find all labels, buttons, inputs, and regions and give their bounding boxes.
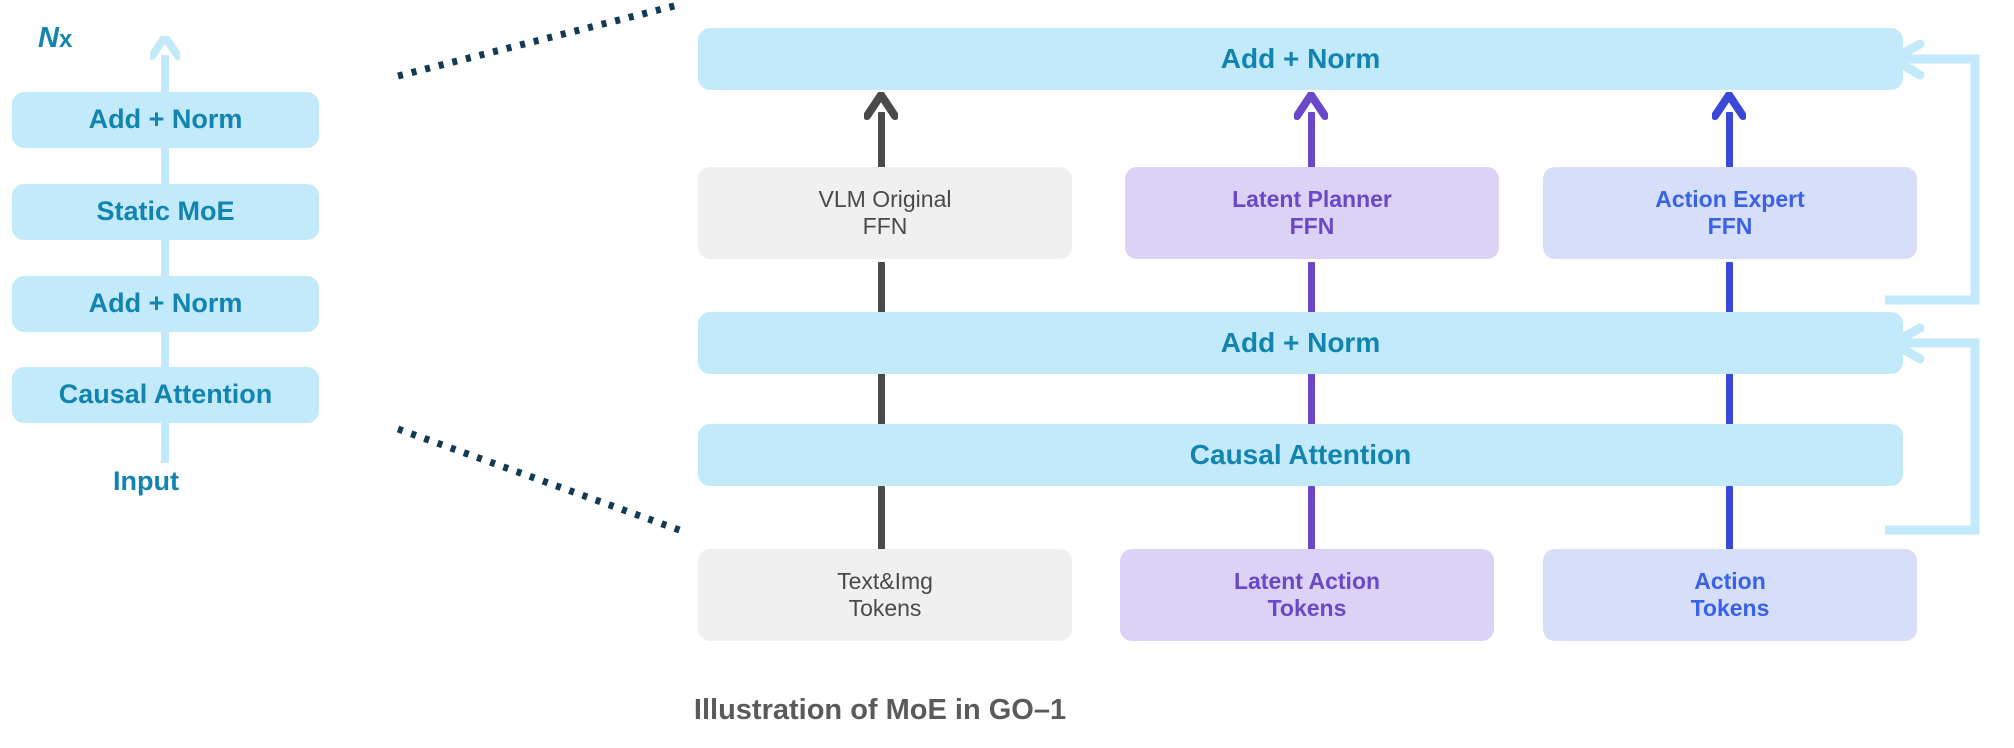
left-block-causal-attention[interactable]: Causal Attention (12, 367, 319, 423)
expert-planner-label: Latent PlannerFFN (1232, 186, 1392, 240)
expert-vlm-line1: VLM Original (819, 186, 952, 212)
moe-architecture-diagram: Nx Add + Norm Static MoE Add + Norm Caus… (0, 0, 2014, 748)
arrow-up-planner-icon (1294, 92, 1328, 128)
token-textimg-line2: Tokens (849, 595, 922, 621)
expert-box-action-expert-ffn[interactable]: Action ExpertFFN (1543, 167, 1917, 259)
left-up-arrow-icon (150, 36, 180, 62)
expert-action-label: Action ExpertFFN (1655, 186, 1805, 240)
connector-attention-to-addnorm-mid-planner (1308, 372, 1315, 426)
repeat-count-x: x (59, 26, 72, 53)
token-box-action-tokens[interactable]: ActionTokens (1543, 549, 1917, 641)
connector-textimg-to-attention (878, 486, 885, 550)
expert-vlm-label: VLM OriginalFFN (819, 186, 952, 240)
connector-addnorm-mid-to-vlm (878, 262, 885, 314)
expert-box-latent-planner-ffn[interactable]: Latent PlannerFFN (1125, 167, 1499, 259)
token-box-text-img-tokens[interactable]: Text&ImgTokens (698, 549, 1072, 641)
connector-addnorm-mid-to-planner (1308, 262, 1315, 314)
input-label: Input (113, 466, 179, 497)
connector-latent-to-attention (1308, 486, 1315, 550)
token-action-label: ActionTokens (1691, 568, 1770, 622)
right-bar-causal-attention[interactable]: Causal Attention (698, 424, 1903, 486)
token-latent-line1: Latent Action (1234, 568, 1380, 594)
expert-vlm-line2: FFN (863, 213, 908, 239)
arrow-up-action-icon (1712, 92, 1746, 128)
right-bar-add-norm-middle[interactable]: Add + Norm (698, 312, 1903, 374)
arrow-up-vlm-icon (864, 92, 898, 128)
token-latent-line2: Tokens (1268, 595, 1347, 621)
expert-action-line1: Action Expert (1655, 186, 1805, 212)
expert-action-line2: FFN (1708, 213, 1753, 239)
repeat-count-n: N (38, 22, 59, 54)
token-action-line2: Tokens (1691, 595, 1770, 621)
expert-box-vlm-original-ffn[interactable]: VLM OriginalFFN (698, 167, 1072, 259)
left-spine-2 (161, 236, 169, 280)
connector-actiontok-to-attention (1726, 486, 1733, 550)
figure-caption: Illustration of MoE in GO–1 (0, 694, 1760, 727)
token-action-line1: Action (1694, 568, 1766, 594)
left-spine-bottom (161, 419, 169, 463)
expansion-guide-bottom (395, 425, 685, 535)
repeat-count-label: Nx (38, 22, 72, 55)
token-textimg-label: Text&ImgTokens (837, 568, 933, 622)
expert-planner-line2: FFN (1290, 213, 1335, 239)
connector-attention-to-addnorm-mid-vlm (878, 372, 885, 426)
token-textimg-line1: Text&Img (837, 568, 933, 594)
left-block-static-moe[interactable]: Static MoE (12, 184, 319, 240)
left-block-add-norm-bottom[interactable]: Add + Norm (12, 276, 319, 332)
expansion-guide-top (395, 0, 685, 80)
token-box-latent-action-tokens[interactable]: Latent ActionTokens (1120, 549, 1494, 641)
connector-addnorm-mid-to-action (1726, 262, 1733, 314)
token-latent-label: Latent ActionTokens (1234, 568, 1380, 622)
right-bar-add-norm-top[interactable]: Add + Norm (698, 28, 1903, 90)
left-block-add-norm-top[interactable]: Add + Norm (12, 92, 319, 148)
connector-attention-to-addnorm-mid-action (1726, 372, 1733, 426)
left-spine-1 (161, 144, 169, 188)
expert-planner-line1: Latent Planner (1232, 186, 1392, 212)
left-spine-3 (161, 328, 169, 372)
